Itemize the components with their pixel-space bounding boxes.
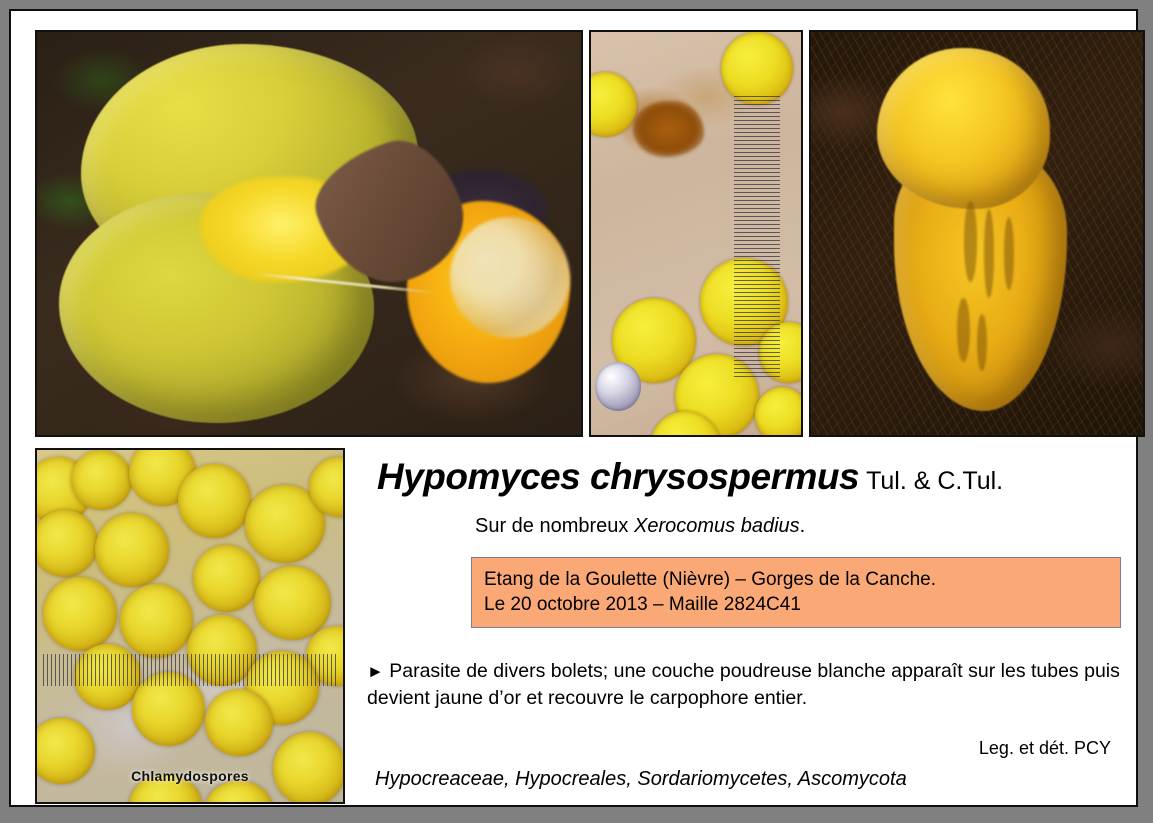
- collector-credit: Leg. et dét. PCY: [359, 738, 1111, 759]
- poster-page: Chlamydospores Hypomyces chrysospermusTu…: [9, 9, 1138, 807]
- host-taxon: Xerocomus badius: [634, 515, 800, 537]
- habitus-photo: [35, 30, 583, 437]
- carpophore-photo-canvas: [811, 32, 1143, 435]
- chlamydospore: [35, 510, 98, 577]
- habitus-white-crust: [450, 217, 570, 338]
- taxonomy-line: Hypocreaceae, Hypocreales, Sordariomycet…: [375, 768, 907, 791]
- poster-outer-frame: Chlamydospores Hypomyces chrysospermusTu…: [0, 0, 1153, 823]
- locality-line-date: Le 20 octobre 2013 – Maille 2824C41: [484, 592, 1108, 617]
- carpophore-fold: [984, 209, 994, 298]
- page-title: Hypomyces chrysospermusTul. & C.Tul.: [377, 456, 1137, 498]
- carpophore-fold: [977, 314, 987, 370]
- spore: [755, 387, 803, 437]
- host-prefix: Sur de nombreux: [475, 515, 634, 537]
- carpophore-cap: [877, 48, 1050, 209]
- spore: [721, 32, 792, 105]
- host-line: Sur de nombreux Xerocomus badius.: [475, 515, 805, 538]
- ecology-text: Parasite de divers bolets; une couche po…: [367, 660, 1120, 709]
- oil-droplet: [595, 362, 641, 410]
- chlamydospore: [193, 545, 260, 612]
- micrometer-scale: [734, 96, 780, 378]
- microscopy-photo: [589, 30, 803, 437]
- carpophore-photo: [809, 30, 1145, 437]
- carpophore-fold: [1004, 217, 1014, 290]
- chlamydospore: [95, 513, 168, 587]
- host-suffix: .: [800, 515, 806, 537]
- text-column: Hypomyces chrysospermusTul. & C.Tul. Sur…: [359, 444, 1137, 804]
- microscopy-photo-canvas: [591, 32, 801, 435]
- carpophore-fold: [964, 201, 977, 282]
- chlamydospores-caption: Chlamydospores: [37, 768, 343, 784]
- habitus-photo-canvas: [37, 32, 581, 435]
- chlamydospore: [205, 689, 272, 756]
- micrometer-scale: [43, 654, 337, 686]
- spore: [589, 72, 637, 136]
- chlamydospore: [205, 781, 272, 804]
- chlamydospore: [178, 464, 251, 538]
- ecology-note: ► Parasite de divers bolets; une couche …: [367, 658, 1137, 712]
- triangle-right-icon: ►: [367, 662, 384, 681]
- species-name: Hypomyces chrysospermus: [377, 456, 859, 497]
- chlamydospores-photo: Chlamydospores: [35, 448, 345, 804]
- brown-exudate: [633, 101, 704, 157]
- chlamydospore: [71, 450, 132, 510]
- species-authority: Tul. & C.Tul.: [866, 467, 1003, 495]
- locality-box: Etang de la Goulette (Nièvre) – Gorges d…: [471, 557, 1121, 628]
- locality-line-place: Etang de la Goulette (Nièvre) – Gorges d…: [484, 567, 1108, 592]
- chlamydospore: [120, 584, 193, 658]
- chlamydospores-photo-canvas: Chlamydospores: [37, 450, 343, 802]
- chlamydospore: [254, 566, 331, 640]
- chlamydospore: [43, 577, 116, 651]
